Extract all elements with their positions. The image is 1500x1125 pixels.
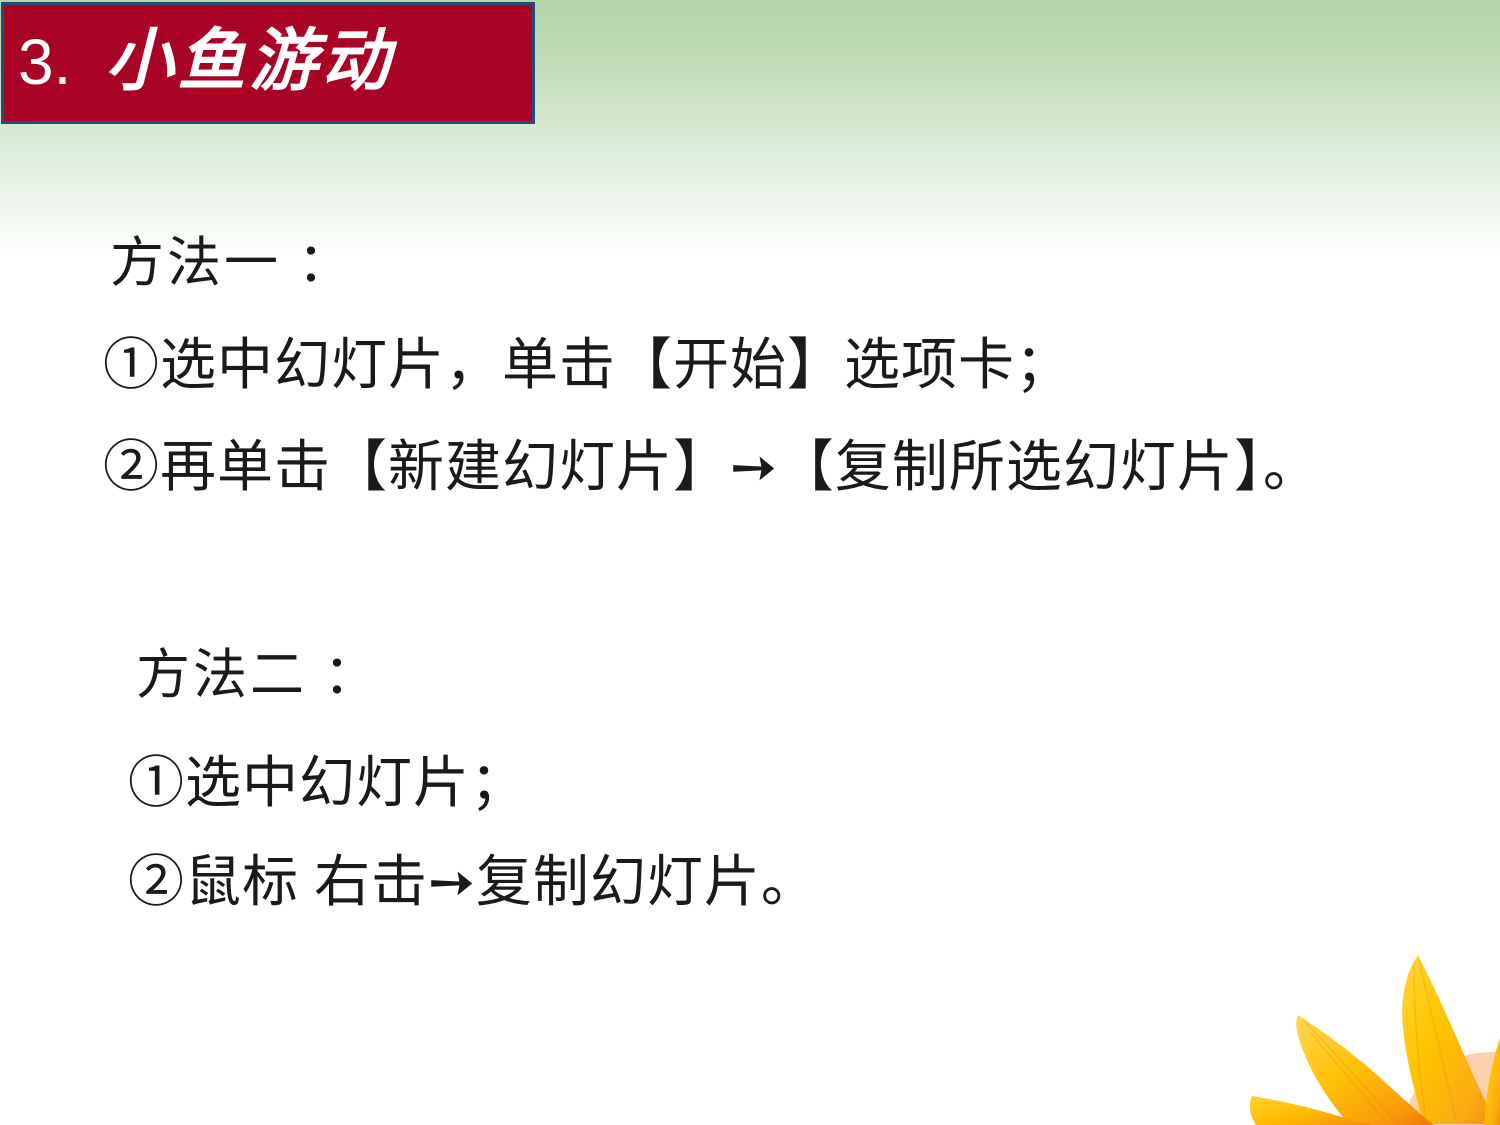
method-one-heading: 方法一 ： [110,236,355,290]
slide-body: 方法一 ： ①选中幻灯片，单击【开始】选项卡； ②再单击【新建幻灯片】➙【复制所… [0,0,1500,1125]
method-two-step-2: ②鼠标 右击➙复制幻灯片。 [128,855,818,911]
method-two-step-1: ①选中幻灯片； [128,756,527,812]
method-one-step-1: ①选中幻灯片，单击【开始】选项卡； [103,338,1072,394]
method-two-heading: 方法二 ： [136,648,381,702]
presentation-slide: 3.小鱼游动 方法一 ： ①选中幻灯片，单击【开始】选项卡； ②再单击【新建幻灯… [0,0,1500,1125]
method-one-step-2: ②再单击【新建幻灯片】➙【复制所选幻灯片】。 [103,440,1320,496]
